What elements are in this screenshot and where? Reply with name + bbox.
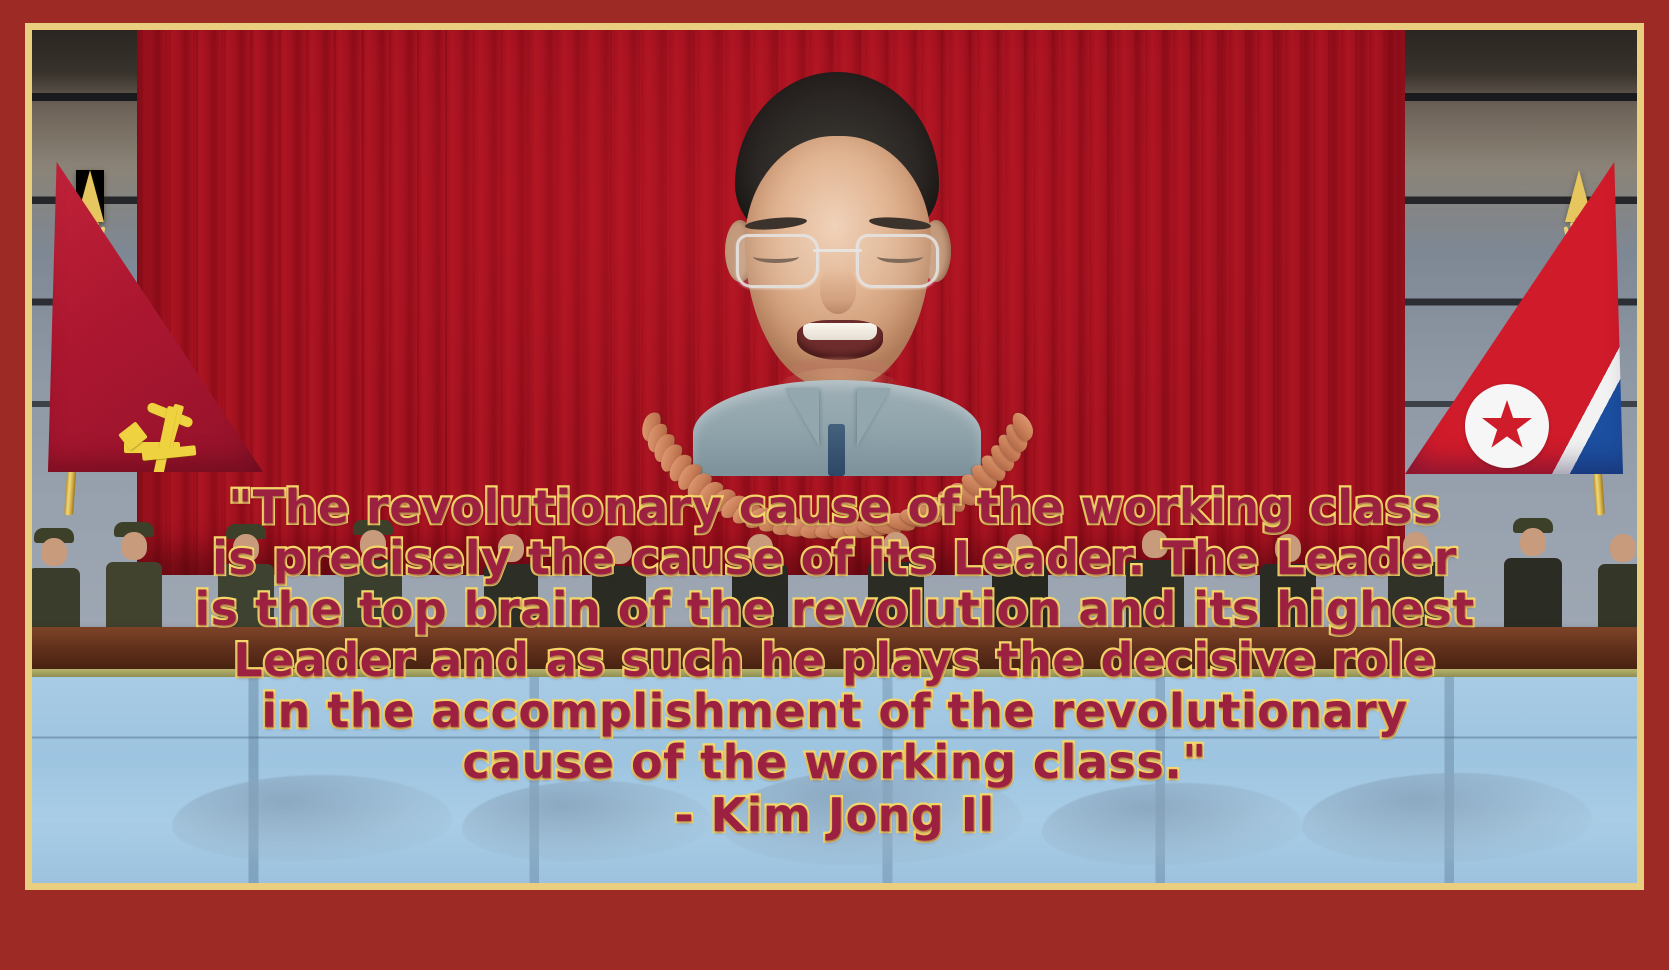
quote-line-4: Leader and as such he plays the decisive… xyxy=(58,635,1611,686)
quote-line-5: in the accomplishment of the revolutiona… xyxy=(58,686,1611,737)
portrait-necktie xyxy=(828,424,845,476)
quote-line-3: is the top brain of the revolution and i… xyxy=(58,584,1611,635)
quote-line-6: cause of the working class." xyxy=(58,737,1611,788)
quote-line-2: is precisely the cause of its Leader. Th… xyxy=(58,533,1611,584)
photo-canvas: "The revolutionary cause of the working … xyxy=(32,30,1637,883)
portrait-teeth xyxy=(803,323,877,340)
eyeglass-bridge xyxy=(813,249,862,252)
kim-jong-il-portrait xyxy=(687,72,987,472)
eyeglass-lens-left xyxy=(736,234,819,288)
eyeglass-lens-right xyxy=(856,234,939,288)
portrait-mouth xyxy=(797,320,883,360)
quote-attribution: - Kim Jong Il xyxy=(58,788,1611,842)
gold-inner-border: "The revolutionary cause of the working … xyxy=(25,23,1644,890)
hammer-sickle-brush-emblem xyxy=(120,390,216,486)
portrait-nose xyxy=(820,268,856,314)
quote-line-1: "The revolutionary cause of the working … xyxy=(58,482,1611,533)
quote-overlay: "The revolutionary cause of the working … xyxy=(32,482,1637,842)
image-frame: "The revolutionary cause of the working … xyxy=(0,0,1669,970)
portrait-collar-right xyxy=(857,388,891,446)
portrait-collar-left xyxy=(785,388,819,446)
